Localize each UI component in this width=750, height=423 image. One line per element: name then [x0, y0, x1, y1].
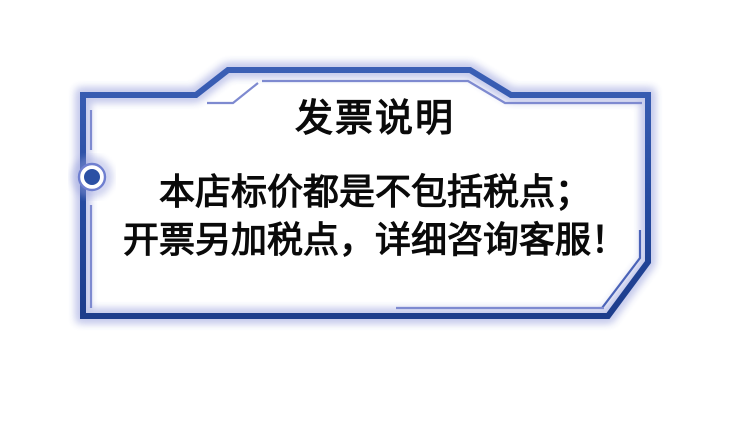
banner-body: 本店标价都是不包括税点； 开票另加税点，详细咨询客服！	[0, 168, 750, 263]
page-title: 发票说明	[0, 100, 750, 138]
banner-text-layer: 发票说明 本店标价都是不包括税点； 开票另加税点，详细咨询客服！	[0, 0, 750, 423]
body-line-1: 本店标价都是不包括税点；	[0, 168, 750, 216]
body-line-2: 开票另加税点，详细咨询客服！	[0, 216, 750, 264]
banner-canvas: 发票说明 本店标价都是不包括税点； 开票另加税点，详细咨询客服！	[0, 0, 750, 423]
